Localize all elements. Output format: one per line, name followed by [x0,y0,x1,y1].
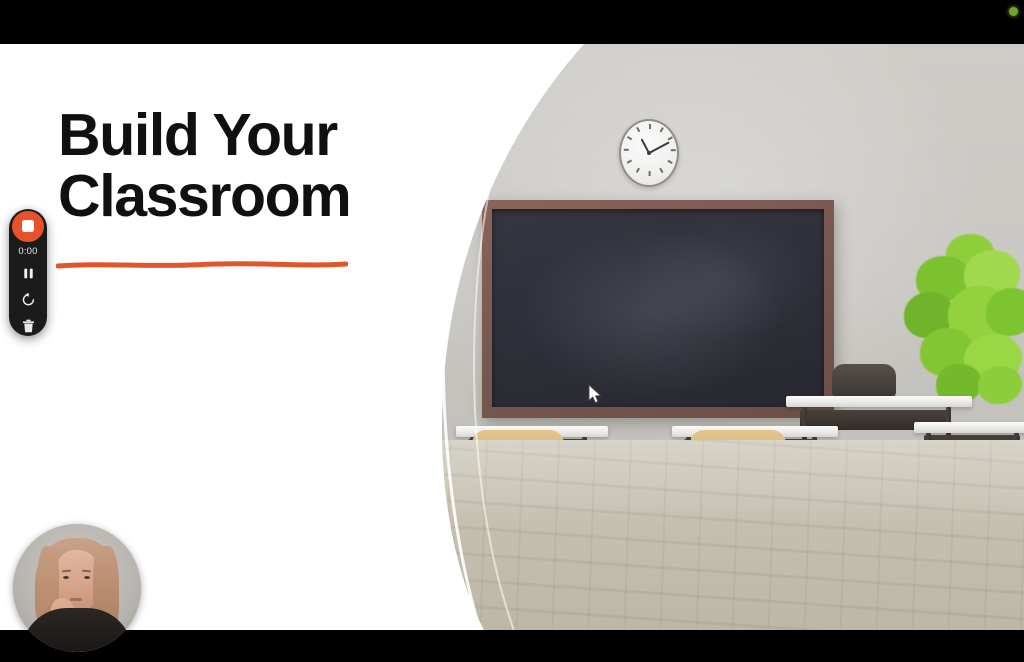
wall-clock-icon [619,119,679,187]
recording-status-dot [1009,7,1018,16]
restart-recording-button[interactable] [18,290,38,309]
classroom-photo-panel [414,44,1024,630]
restart-icon [21,292,36,307]
teacher-chair [832,364,896,398]
delete-recording-button[interactable] [18,317,38,336]
pause-icon [22,267,35,280]
stop-square-icon [22,220,34,232]
pause-recording-button[interactable] [18,264,38,283]
potted-plant [902,230,1024,408]
screen-recording-canvas: Build Your Classroom 0:00 [0,0,1024,662]
title-block: Build Your Classroom [58,105,418,227]
trash-icon [22,319,35,333]
chalkboard [482,200,834,418]
classroom-photo [414,44,1024,630]
presenter-mouth [70,598,82,601]
floor-texture [414,440,1024,630]
stop-recording-button[interactable] [12,211,44,242]
letterbox-top [0,0,1024,44]
recording-timer: 0:00 [18,246,37,257]
presenter-webcam-avatar[interactable] [13,524,141,652]
recording-toolbar[interactable]: 0:00 [9,209,47,336]
chalkboard-surface [492,209,824,407]
page-title: Build Your Classroom [58,105,418,227]
presentation-slide: Build Your Classroom [0,44,1024,630]
title-underline [56,259,348,271]
letterbox-bottom [0,630,1024,662]
